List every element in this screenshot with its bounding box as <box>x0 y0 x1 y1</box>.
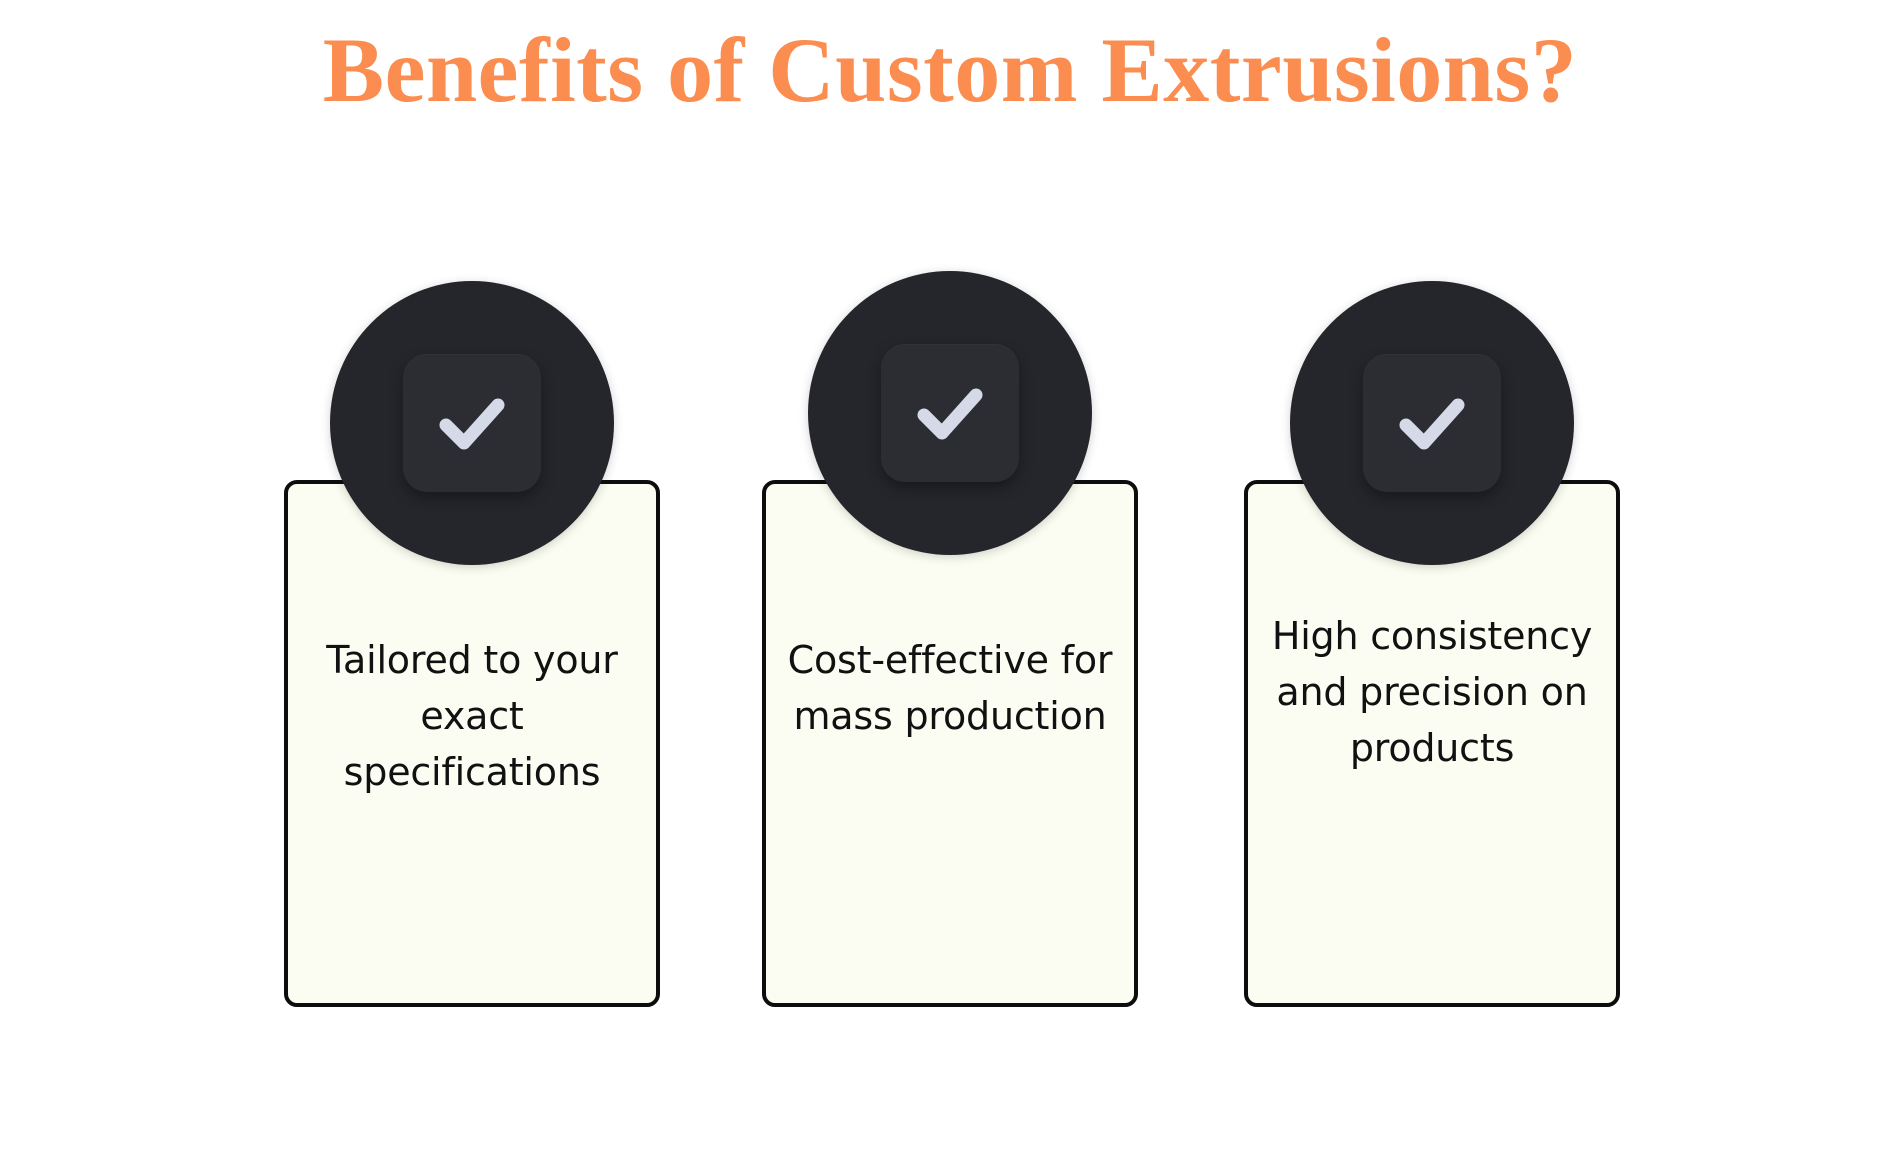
card-text-container: Tailored to your exact specifications <box>306 484 638 1151</box>
check-icon <box>1384 375 1480 471</box>
benefit-card-1[interactable]: Tailored to your exact specifications <box>284 480 660 1007</box>
benefit-card-2-label: Cost-effective for mass production <box>784 632 1116 744</box>
benefit-card-3-label: High consistency and precision on produc… <box>1266 608 1598 776</box>
benefit-cards-row: Tailored to your exact specifications Co… <box>284 480 1618 1007</box>
check-icon <box>424 375 520 471</box>
page-title: Benefits of Custom Extrusions? <box>0 16 1900 124</box>
check-icon <box>902 365 998 461</box>
benefit-card-3[interactable]: High consistency and precision on produc… <box>1244 480 1620 1007</box>
benefit-card-1-label: Tailored to your exact specifications <box>306 632 638 800</box>
card-box: Cost-effective for mass production <box>762 480 1138 1007</box>
card-text-container: High consistency and precision on produc… <box>1266 484 1598 1127</box>
check-icon-tile <box>403 354 541 492</box>
check-icon-tile <box>881 344 1019 482</box>
benefit-card-3-badge <box>1290 281 1574 565</box>
benefit-card-2[interactable]: Cost-effective for mass production <box>762 480 1138 1007</box>
check-icon-tile <box>1363 354 1501 492</box>
slide-canvas: Benefits of Custom Extrusions? Tailored … <box>0 0 1900 1080</box>
card-text-container: Cost-effective for mass production <box>784 484 1116 1151</box>
benefit-card-2-badge <box>808 271 1092 555</box>
benefit-card-1-badge <box>330 281 614 565</box>
